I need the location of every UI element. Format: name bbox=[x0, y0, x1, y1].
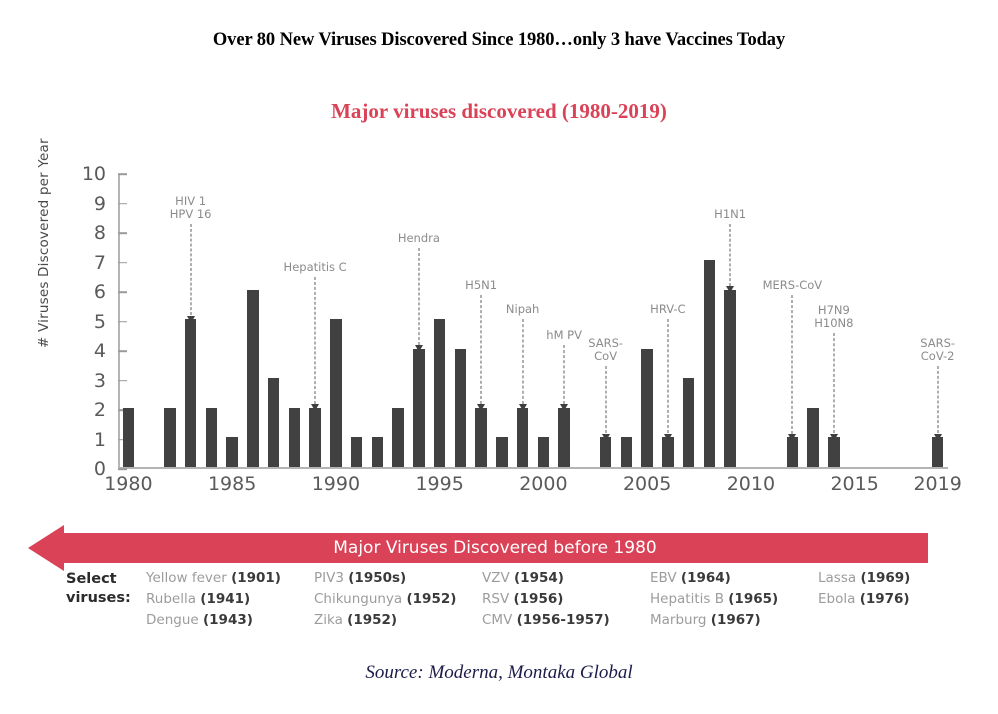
virus-name: Marburg bbox=[650, 612, 711, 628]
bar bbox=[392, 408, 404, 467]
annotation-connector bbox=[315, 277, 316, 404]
virus-entry: EBV (1964) bbox=[650, 568, 818, 589]
bar bbox=[123, 408, 135, 467]
select-viruses-line: viruses: bbox=[66, 589, 146, 608]
annotation-label: Hendra bbox=[398, 232, 440, 245]
bar bbox=[475, 408, 487, 467]
annotation-arrow-icon bbox=[187, 316, 195, 323]
virus-name: Zika bbox=[314, 612, 347, 628]
virus-year: (1943) bbox=[203, 612, 253, 628]
virus-column: VZV (1954)RSV (1956)CMV (1956-1957) bbox=[482, 568, 650, 631]
virus-year: (1941) bbox=[200, 591, 250, 607]
annotation-connector bbox=[667, 319, 668, 434]
bar bbox=[330, 319, 342, 467]
bar bbox=[600, 437, 612, 467]
virus-year: (1952) bbox=[406, 591, 456, 607]
pre-1980-banner: Major Viruses Discovered before 1980 bbox=[0, 525, 998, 573]
annotation-label: SARS-CoV bbox=[588, 337, 623, 363]
x-tick-label: 2005 bbox=[623, 473, 671, 495]
annotation-connector bbox=[605, 366, 606, 434]
bar bbox=[496, 437, 508, 467]
bar bbox=[351, 437, 363, 467]
y-axis-label: # Viruses Discovered per Year bbox=[36, 128, 52, 348]
bar bbox=[289, 408, 301, 467]
bar bbox=[164, 408, 176, 467]
virus-discovery-bar-chart: # Viruses Discovered per Year 0123456789… bbox=[0, 160, 998, 505]
annotation-arrow-icon bbox=[477, 404, 485, 411]
annotation-arrow-icon bbox=[415, 345, 423, 352]
virus-year: (1964) bbox=[681, 570, 731, 586]
page-title: Over 80 New Viruses Discovered Since 198… bbox=[0, 30, 998, 51]
x-tick-label: 2015 bbox=[830, 473, 878, 495]
x-axis-line bbox=[118, 467, 948, 469]
annotation-connector bbox=[937, 366, 938, 434]
bar bbox=[704, 260, 716, 467]
annotation-arrow-icon bbox=[934, 434, 942, 441]
bar bbox=[185, 319, 197, 467]
bar bbox=[268, 378, 280, 467]
annotation-label: SARS-CoV-2 bbox=[920, 337, 955, 363]
virus-entry: Chikungunya (1952) bbox=[314, 589, 482, 610]
virus-entry: Yellow fever (1901) bbox=[146, 568, 314, 589]
annotation-connector bbox=[564, 345, 565, 404]
virus-column: PIV3 (1950s)Chikungunya (1952)Zika (1952… bbox=[314, 568, 482, 631]
virus-column: Lassa (1969)Ebola (1976) bbox=[818, 568, 986, 631]
annotation-arrow-icon bbox=[726, 286, 734, 293]
y-tick-label: 5 bbox=[94, 311, 118, 333]
annotation-label: Hepatitis C bbox=[284, 261, 347, 274]
annotation-label: H7N9H10N8 bbox=[814, 304, 853, 330]
select-viruses-label: Selectviruses: bbox=[66, 570, 146, 608]
virus-entry: Lassa (1969) bbox=[818, 568, 986, 589]
y-tick-label: 6 bbox=[94, 281, 118, 303]
virus-name: RSV bbox=[482, 591, 513, 607]
annotation-arrow-icon bbox=[311, 404, 319, 411]
virus-name: EBV bbox=[650, 570, 681, 586]
bar bbox=[662, 437, 674, 467]
annotation-label: MERS-CoV bbox=[763, 279, 823, 292]
virus-year: (1956-1957) bbox=[517, 612, 610, 628]
virus-name: Dengue bbox=[146, 612, 203, 628]
virus-entry: Rubella (1941) bbox=[146, 589, 314, 610]
bar bbox=[434, 319, 446, 467]
virus-year: (1901) bbox=[231, 570, 281, 586]
annotation-arrow-icon bbox=[560, 404, 568, 411]
bar bbox=[413, 349, 425, 467]
annotation-connector bbox=[418, 248, 419, 345]
bar bbox=[226, 437, 238, 467]
bar bbox=[538, 437, 550, 467]
virus-year: (1956) bbox=[513, 591, 563, 607]
virus-year: (1952) bbox=[347, 612, 397, 628]
virus-entry: Hepatitis B (1965) bbox=[650, 589, 818, 610]
bar bbox=[932, 437, 944, 467]
plot-area: 012345678910 HIV 1HPV 16Hepatitis CHendr… bbox=[118, 174, 948, 469]
annotation-arrow-icon bbox=[519, 404, 527, 411]
bar bbox=[724, 290, 736, 467]
annotation-connector bbox=[522, 319, 523, 404]
annotation-label: H1N1 bbox=[714, 208, 746, 221]
virus-entry: Zika (1952) bbox=[314, 610, 482, 631]
bar bbox=[621, 437, 633, 467]
y-tick-label: 10 bbox=[82, 163, 118, 185]
bar bbox=[683, 378, 695, 467]
select-viruses-line: Select bbox=[66, 570, 146, 589]
virus-column: Yellow fever (1901)Rubella (1941)Dengue … bbox=[146, 568, 314, 631]
y-tick-label: 9 bbox=[94, 193, 118, 215]
virus-entry: Marburg (1967) bbox=[650, 610, 818, 631]
annotation-arrow-icon bbox=[788, 434, 796, 441]
virus-entry: VZV (1954) bbox=[482, 568, 650, 589]
virus-name: VZV bbox=[482, 570, 514, 586]
annotation-label: H5N1 bbox=[465, 279, 497, 292]
virus-year: (1954) bbox=[514, 570, 564, 586]
annotation-arrow-icon bbox=[664, 434, 672, 441]
bar bbox=[641, 349, 653, 467]
bar bbox=[309, 408, 321, 467]
annotation-arrow-icon bbox=[602, 434, 610, 441]
virus-name: Ebola bbox=[818, 591, 860, 607]
bar bbox=[828, 437, 840, 467]
virus-year: (1969) bbox=[860, 570, 910, 586]
x-tick-label: 2000 bbox=[519, 473, 567, 495]
annotation-connector bbox=[792, 295, 793, 434]
virus-column: EBV (1964)Hepatitis B (1965)Marburg (196… bbox=[650, 568, 818, 631]
virus-list: Yellow fever (1901)Rubella (1941)Dengue … bbox=[146, 568, 986, 631]
annotation-label: Nipah bbox=[506, 303, 539, 316]
virus-name: Yellow fever bbox=[146, 570, 231, 586]
virus-entry: Dengue (1943) bbox=[146, 610, 314, 631]
arrow-left-icon bbox=[28, 525, 64, 571]
virus-name: Lassa bbox=[818, 570, 860, 586]
y-tick-label: 8 bbox=[94, 222, 118, 244]
y-tick-label: 1 bbox=[94, 429, 118, 451]
annotation-connector bbox=[730, 224, 731, 286]
chart-title: Major viruses discovered (1980-2019) bbox=[0, 99, 998, 124]
banner-label: Major Viruses Discovered before 1980 bbox=[62, 533, 928, 563]
x-tick-label: 1985 bbox=[208, 473, 256, 495]
bar bbox=[558, 408, 570, 467]
virus-name: CMV bbox=[482, 612, 517, 628]
bar bbox=[517, 408, 529, 467]
y-tick-label: 2 bbox=[94, 399, 118, 421]
bar bbox=[206, 408, 218, 467]
annotation-connector bbox=[833, 333, 834, 433]
annotation-connector bbox=[481, 295, 482, 404]
virus-name: PIV3 bbox=[314, 570, 348, 586]
virus-year: (1965) bbox=[728, 591, 778, 607]
virus-year: (1976) bbox=[860, 591, 910, 607]
virus-year: (1950s) bbox=[348, 570, 406, 586]
x-tick-label: 1980 bbox=[104, 473, 152, 495]
virus-name: Rubella bbox=[146, 591, 200, 607]
annotation-arrow-icon bbox=[830, 434, 838, 441]
annotation-connector bbox=[190, 224, 191, 315]
bar bbox=[247, 290, 259, 467]
y-tick-label: 4 bbox=[94, 340, 118, 362]
virus-entry: CMV (1956-1957) bbox=[482, 610, 650, 631]
x-tick-label: 1995 bbox=[415, 473, 463, 495]
source-note: Source: Moderna, Montaka Global bbox=[0, 662, 998, 684]
virus-entry: RSV (1956) bbox=[482, 589, 650, 610]
x-tick-label: 2010 bbox=[727, 473, 775, 495]
bar bbox=[372, 437, 384, 467]
bar bbox=[807, 408, 819, 467]
virus-entry: Ebola (1976) bbox=[818, 589, 986, 610]
x-tick-label: 2019 bbox=[913, 473, 961, 495]
y-tick-mark bbox=[118, 468, 127, 470]
y-tick-label: 3 bbox=[94, 370, 118, 392]
virus-year: (1967) bbox=[711, 612, 761, 628]
virus-name: Hepatitis B bbox=[650, 591, 728, 607]
x-tick-label: 1990 bbox=[312, 473, 360, 495]
annotation-label: HRV-C bbox=[650, 303, 685, 316]
bar bbox=[787, 437, 799, 467]
y-tick-label: 7 bbox=[94, 252, 118, 274]
x-axis-ticks: 198019851990199520002005201020152019 bbox=[118, 473, 948, 503]
bar bbox=[455, 349, 467, 467]
virus-name: Chikungunya bbox=[314, 591, 406, 607]
annotation-label: hM PV bbox=[546, 329, 582, 342]
annotation-label: HIV 1HPV 16 bbox=[170, 195, 212, 221]
virus-entry: PIV3 (1950s) bbox=[314, 568, 482, 589]
